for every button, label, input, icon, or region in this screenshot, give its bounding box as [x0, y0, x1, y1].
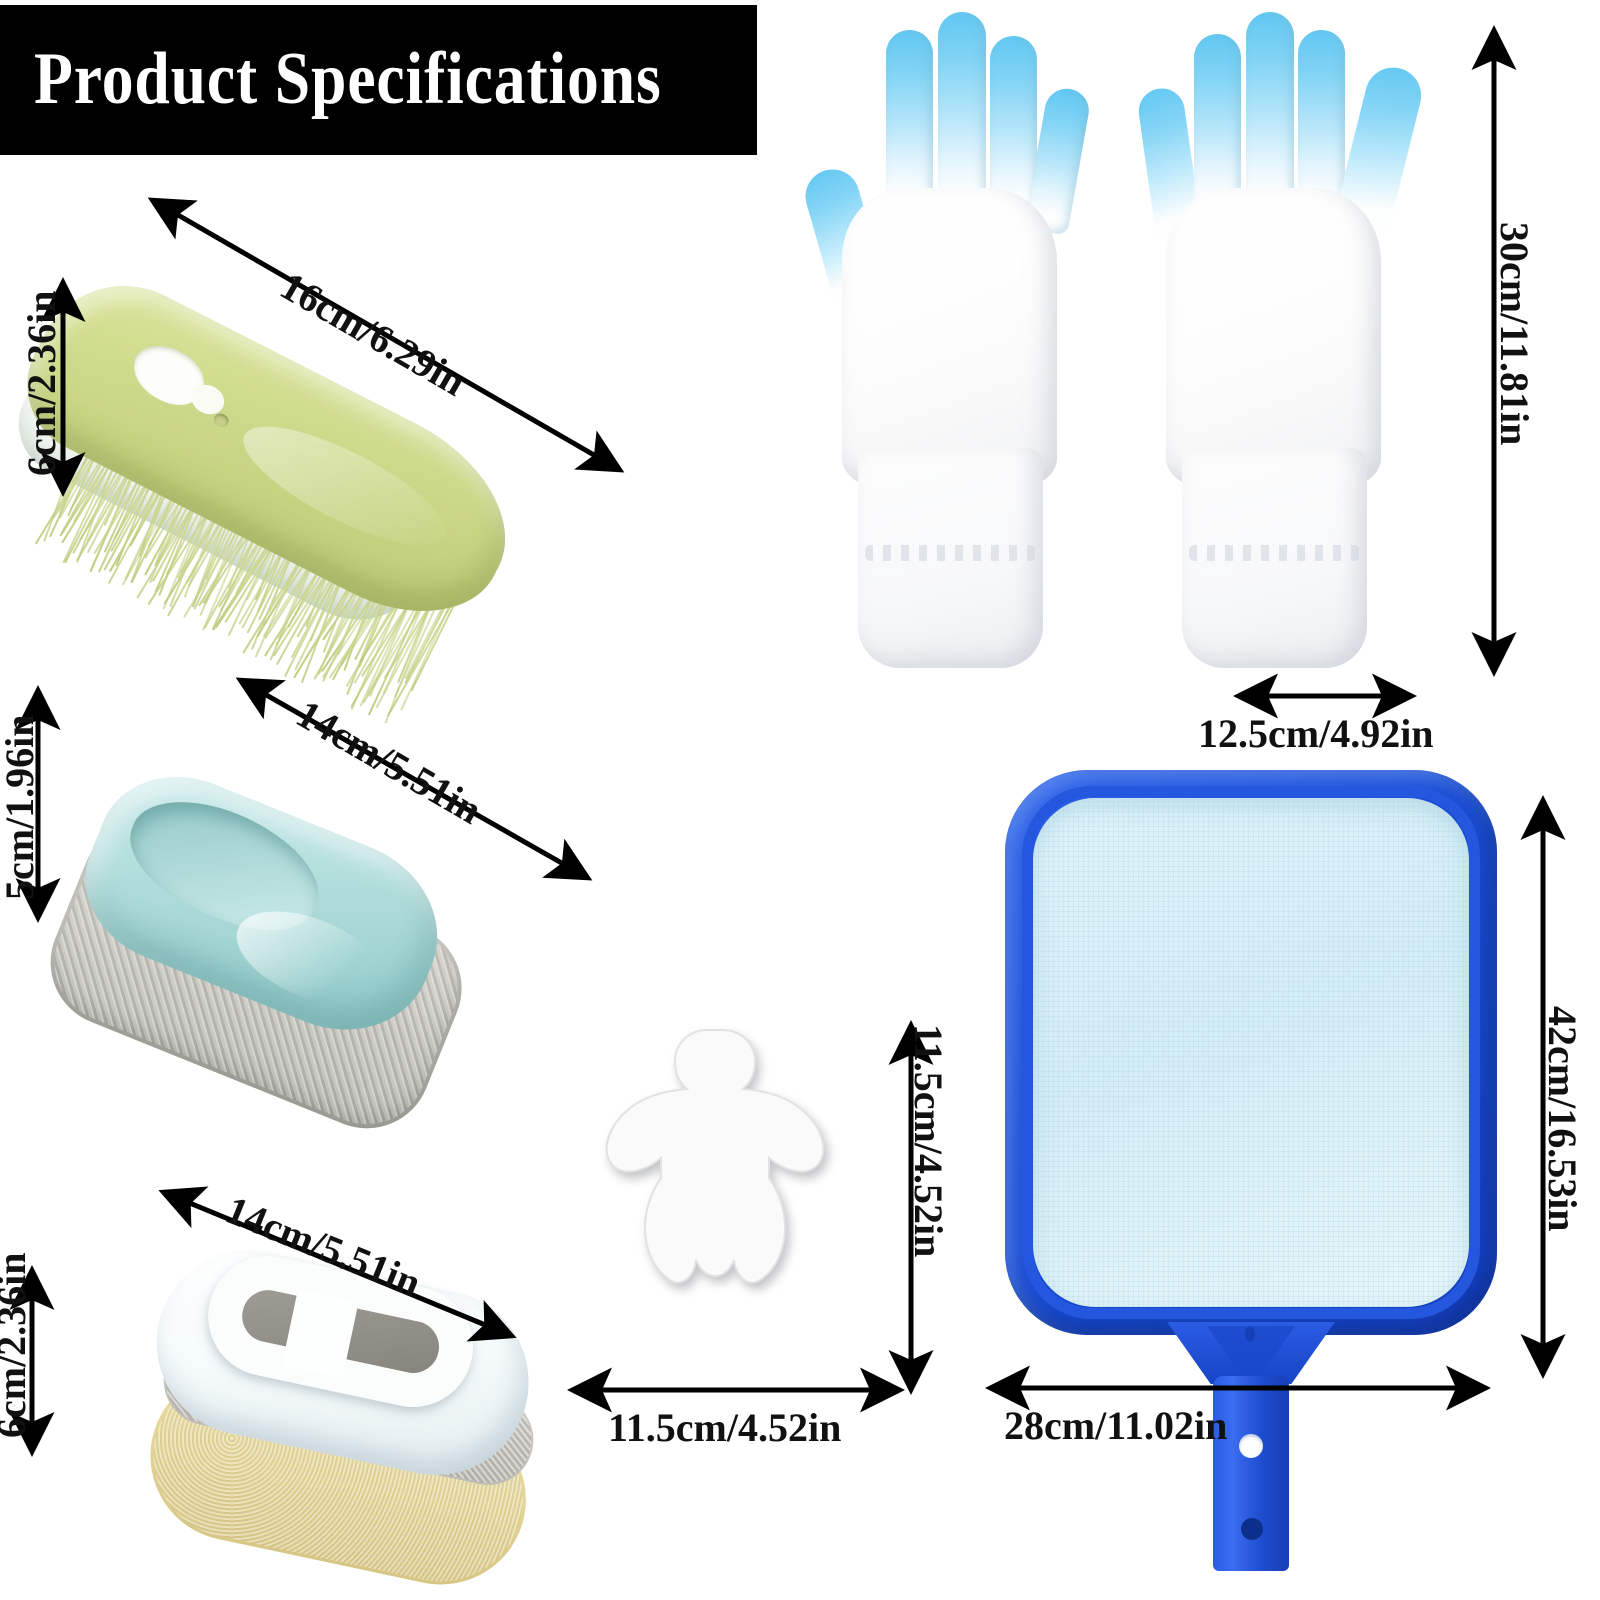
label-skimmer-width: 28cm/11.02in	[1004, 1402, 1227, 1449]
title-banner: Product Specifications	[0, 5, 757, 155]
glove-cuff	[858, 448, 1043, 668]
label-turtle-height: 11.5cm/4.52in	[905, 1024, 952, 1257]
glove-right	[1130, 8, 1430, 668]
cleaning-gloves-pair	[800, 8, 1430, 668]
glove-palm	[842, 188, 1057, 488]
label-brush-green-height: 6cm/2.36in	[18, 290, 65, 476]
handle-hole-upper	[1239, 1434, 1263, 1458]
turtle-mat-shape	[572, 1022, 872, 1342]
finger-middle	[938, 12, 986, 217]
skimmer-yoke-dot	[1245, 1326, 1255, 1342]
page-title: Product Specifications	[34, 37, 636, 122]
label-brush-white-height: 6cm/2.36in	[0, 1252, 35, 1438]
finger-middle	[1246, 12, 1294, 217]
label-gloves-width: 12.5cm/4.92in	[1198, 710, 1434, 757]
glove-palm	[1166, 188, 1381, 488]
turtle-bath-mat	[572, 1022, 872, 1342]
label-skimmer-length: 42cm/16.53in	[1539, 1006, 1586, 1232]
glove-cuff	[1182, 448, 1367, 668]
glove-left	[800, 8, 1100, 668]
product-spec-sheet: Product Specifications	[0, 0, 1600, 1600]
label-gloves-length: 30cm/11.81in	[1491, 222, 1538, 445]
handle-hole-lower	[1241, 1518, 1263, 1540]
label-brush-teal-height: 5cm/1.96in	[0, 714, 43, 900]
pool-skimmer-net	[1005, 770, 1505, 1570]
teal-sponge-scrub-brush	[110, 745, 590, 1115]
label-turtle-width: 11.5cm/4.52in	[608, 1404, 841, 1451]
skimmer-mesh	[1033, 798, 1469, 1307]
